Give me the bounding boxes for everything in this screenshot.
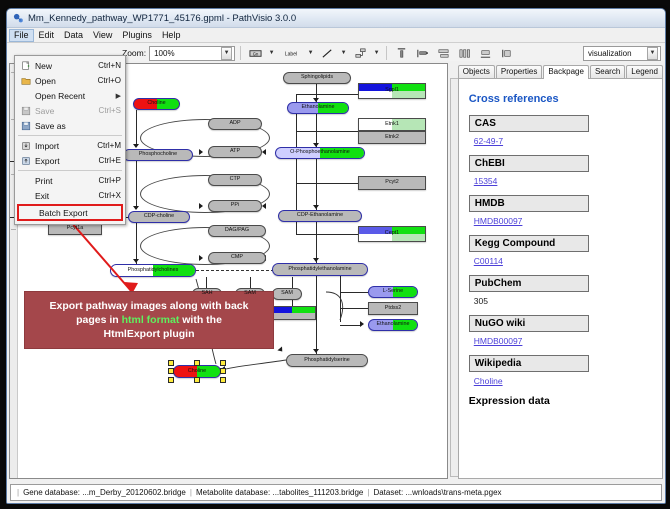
callout-line2-a: pages in (76, 314, 122, 326)
toolbar-separator (240, 46, 241, 60)
backpage-content: Cross references CAS62-49-7ChEBI15354HMD… (458, 78, 663, 479)
xref-value[interactable]: Choline (474, 376, 652, 386)
pathway-node-cdp-choline[interactable]: CDP-choline (128, 211, 190, 223)
line-icon[interactable] (318, 44, 336, 62)
arrowhead (262, 203, 266, 209)
node-label: SAH (201, 291, 212, 296)
chevron-down-icon[interactable]: ▼ (306, 46, 315, 60)
pathway-node-choline-top[interactable]: Choline (133, 98, 180, 110)
arrowhead (262, 149, 266, 155)
arrowhead (199, 203, 203, 209)
menu-file[interactable]: File (9, 29, 34, 42)
gene-db-label: Gene database: (23, 488, 80, 497)
xref-entry: HMDBHMDB00097 (469, 195, 652, 226)
tab-backpage[interactable]: Backpage (543, 65, 589, 79)
node-label: Phosphatidylcholines (128, 268, 179, 273)
pathway-gene-pemt-box[interactable] (268, 306, 316, 320)
common-width-icon[interactable] (476, 44, 494, 62)
node-label: CDP-Ethanolamine (297, 213, 343, 218)
interaction-icon[interactable] (351, 44, 369, 62)
arrowhead (199, 149, 203, 155)
pathway-node-cmp[interactable]: CMP (208, 252, 266, 264)
edge-serine-branch (340, 276, 341, 322)
pathway-node-phosphatidylcholines[interactable]: Phosphatidylcholines (110, 264, 196, 277)
menu-view[interactable]: View (88, 29, 117, 42)
node-label: ATP (230, 149, 240, 154)
chevron-down-icon[interactable]: ▼ (267, 46, 276, 60)
submenu-arrow-icon: ▶ (116, 92, 121, 100)
node-label: Ethanolamine (377, 322, 410, 327)
menu-item-accelerator: Ctrl+S (93, 106, 121, 115)
pathway-node-atp[interactable]: ATP (208, 146, 262, 158)
menu-separator (18, 170, 122, 171)
gene-band-bottom (269, 313, 315, 319)
metabolite-db-value: ...tabolites_111203.bridge (272, 488, 363, 497)
arrowhead (313, 258, 319, 262)
chevron-down-icon[interactable]: ▼ (339, 46, 348, 60)
menu-item-import[interactable]: ImportCtrl+M (15, 138, 125, 153)
menu-item-open-recent[interactable]: Open Recent▶ (15, 88, 125, 103)
pathway-node-ethanolamine-low[interactable]: Ethanolamine (368, 319, 418, 331)
xref-label: CAS (469, 115, 589, 132)
menu-item-accelerator: Ctrl+X (93, 191, 121, 200)
pathway-node-cdp-ethanolamine[interactable]: CDP-Ethanolamine (278, 210, 362, 222)
edge-ethanolamine-low (340, 325, 360, 326)
node-label: Phosphatidylethanolamine (288, 267, 351, 272)
zoom-combo[interactable]: 100% ▼ (149, 46, 235, 61)
pathway-node-l-serine[interactable]: L-Serine (368, 286, 418, 298)
distribute-horizontal-icon[interactable] (455, 44, 473, 62)
menu-item-label: New (32, 61, 92, 71)
common-height-icon[interactable] (497, 44, 515, 62)
edge-pemt-dashed (196, 270, 274, 271)
edge-etnk (296, 131, 358, 132)
toolbar-separator (386, 46, 387, 60)
node-label: CDP-choline (144, 214, 174, 219)
menu-item-label: Import (32, 141, 91, 151)
menu-item-accelerator: Ctrl+E (93, 156, 121, 165)
import-icon (19, 140, 32, 151)
menu-item-label: Save (32, 106, 93, 116)
xref-value[interactable]: 62-49-7 (474, 136, 652, 146)
xref-entry: PubChem305 (469, 275, 652, 306)
pathway-node-phosphatidylethanolamine[interactable]: Phosphatidylethanolamine (272, 263, 368, 276)
xref-link[interactable]: HMDB00097 (474, 336, 523, 346)
gene-label: Cept1 (385, 231, 399, 236)
xref-list: CAS62-49-7ChEBI15354HMDBHMDB00097Kegg Co… (469, 115, 652, 386)
arrowhead (313, 349, 319, 353)
pathway-gene-ptdss2[interactable]: Ptdss2 (368, 302, 418, 315)
menu-item-label: Export (32, 156, 93, 166)
pathway-node-sphingolipids[interactable]: Sphingolipids (283, 72, 351, 84)
menu-item-accelerator: Ctrl+M (91, 141, 121, 150)
xref-value[interactable]: HMDB00097 (474, 336, 652, 346)
svg-text:Gn: Gn (252, 51, 258, 56)
edge-sgpl1 (296, 94, 358, 95)
xref-entry: CAS62-49-7 (469, 115, 652, 146)
tab-properties[interactable]: Properties (496, 65, 542, 78)
menu-item-label: Open Recent (32, 91, 116, 101)
callout-highlight: html format (122, 314, 180, 326)
save-as-icon (19, 120, 32, 131)
pathway-gene-etnk1[interactable]: Etnk1 (358, 118, 426, 131)
xref-value[interactable]: C00114 (474, 256, 652, 266)
menu-item-exit[interactable]: ExitCtrl+X (15, 188, 125, 203)
edge-pcyt2 (296, 183, 358, 184)
xref-entry: Kegg CompoundC00114 (469, 235, 652, 266)
chevron-down-icon[interactable]: ▼ (647, 47, 658, 60)
xref-label: PubChem (469, 275, 589, 292)
menu-separator (18, 135, 122, 136)
xref-label: ChEBI (469, 155, 589, 172)
node-label: SAM (281, 291, 293, 296)
xref-label: Wikipedia (469, 355, 589, 372)
edge-ophospho-cdpetn (316, 159, 317, 211)
gene-label: Sgpl1 (385, 88, 399, 93)
pathway-node-ethanolamine-top[interactable]: Ethanolamine (287, 102, 349, 114)
xref-link[interactable]: 15354 (474, 176, 498, 186)
xref-value[interactable]: 15354 (474, 176, 652, 186)
xref-link[interactable]: HMDB00097 (474, 216, 523, 226)
menu-item-label: Open (32, 76, 92, 86)
expression-data-title: Expression data (469, 395, 652, 407)
xref-label: Kegg Compound (469, 235, 589, 252)
node-label: CMP (231, 255, 243, 260)
metabolite-db-label: Metabolite database: (196, 488, 270, 497)
edge-lserine (340, 292, 368, 293)
open-folder-icon (19, 75, 32, 86)
pathway-node-ppi[interactable]: PPi (208, 200, 262, 212)
menu-item-new[interactable]: NewCtrl+N (15, 58, 125, 73)
menu-plugins[interactable]: Plugins (117, 29, 157, 42)
node-label: CTP (230, 177, 241, 182)
pathway-gene-etnk2[interactable]: Etnk2 (358, 131, 426, 144)
node-label: ADP (229, 121, 240, 126)
gene-label: Pcyt2 (385, 180, 398, 185)
visualization-value: visualization (588, 49, 632, 58)
arrowhead (360, 321, 364, 327)
node-label: Choline (188, 369, 206, 374)
cross-references-title: Cross references (469, 93, 652, 105)
no-icon (19, 175, 32, 186)
align-left-icon[interactable] (413, 44, 431, 62)
node-label: Phosphocholine (139, 152, 177, 157)
pathway-node-o-phosphoethanolamine[interactable]: O-Phosphoethanolamine (275, 147, 365, 159)
edge-phosphocholine-cdpcholine (136, 161, 137, 209)
screen: Mm_Kennedy_pathway_WP1771_45176.gpml - P… (0, 0, 670, 509)
status-text: | Gene database: ...m_Derby_20120602.bri… (10, 484, 662, 501)
label-icon[interactable]: Label (279, 44, 303, 62)
menu-item-save: SaveCtrl+S (15, 103, 125, 118)
pathway-node-phosphatidylserine[interactable]: Phosphatidylserine (286, 354, 368, 367)
file-menu-dropdown[interactable]: NewCtrl+NOpenCtrl+OOpen Recent▶SaveCtrl+… (14, 55, 126, 225)
status-bar: | Gene database: ...m_Derby_20120602.bri… (7, 481, 665, 503)
no-icon (23, 207, 36, 218)
no-icon (19, 190, 32, 201)
xref-label: HMDB (469, 195, 589, 212)
edge-ptdetn-ptdser (316, 276, 317, 354)
menu-bar: File Edit Data View Plugins Help (7, 28, 665, 43)
callout-line3: HtmlExport plugin (104, 328, 195, 340)
xref-link[interactable]: 62-49-7 (474, 136, 503, 146)
edge-cdpcholine-ptdcho (136, 223, 137, 264)
xref-entry: NuGO wikiHMDB00097 (469, 315, 652, 346)
menu-data[interactable]: Data (59, 29, 88, 42)
title-bar: Mm_Kennedy_pathway_WP1771_45176.gpml - P… (7, 9, 665, 28)
node-label: DAG/PAG (225, 228, 249, 233)
dataset-label: Dataset: (373, 488, 403, 497)
arrowhead (199, 255, 203, 261)
gene-label: Etnk1 (385, 122, 399, 127)
arrowhead (133, 144, 139, 148)
pathway-gene-sgpl1[interactable]: Sgpl1 (358, 83, 426, 99)
menu-item-print[interactable]: PrintCtrl+P (15, 173, 125, 188)
menu-item-label: Print (32, 176, 93, 186)
pathway-gene-cept1[interactable]: Cept1 (358, 226, 426, 242)
xref-entry: ChEBI15354 (469, 155, 652, 186)
export-icon (19, 155, 32, 166)
xref-value: 305 (474, 296, 652, 306)
pathway-node-sam-right[interactable]: SAM (272, 288, 302, 300)
visualization-combo[interactable]: visualization ▼ (583, 46, 661, 61)
xref-link[interactable]: C00114 (474, 256, 503, 266)
xref-link[interactable]: Choline (474, 376, 503, 386)
tab-search[interactable]: Search (590, 65, 625, 78)
node-label: O-Phosphoethanolamine (290, 150, 350, 155)
zoom-value: 100% (154, 49, 174, 58)
pathway-gene-pcyt2[interactable]: Pcyt2 (358, 176, 426, 190)
gene-db-value: ...m_Derby_20120602.bridge (82, 488, 186, 497)
gene-label: Pcyt1a (67, 226, 83, 231)
arrowhead (313, 205, 319, 209)
pathvisio-window: Mm_Kennedy_pathway_WP1771_45176.gpml - P… (6, 8, 666, 504)
svg-text:Label: Label (285, 52, 297, 58)
align-top-icon[interactable] (392, 44, 410, 62)
xref-label: NuGO wiki (469, 315, 589, 332)
menu-edit[interactable]: Edit (34, 29, 60, 42)
dataset-value: ...wnloads\trans-meta.pgex (405, 488, 501, 497)
pathway-node-ctp[interactable]: CTP (208, 174, 262, 186)
menu-item-accelerator: Ctrl+O (92, 76, 121, 85)
node-label: Ethanolamine (302, 105, 335, 110)
node-label: PPi (231, 203, 239, 208)
pathway-node-phosphocholine[interactable]: Phosphocholine (123, 149, 193, 161)
menu-item-label: Exit (32, 191, 93, 201)
edge-choline-phosphocholine (136, 110, 137, 146)
side-tabs: Objects Properties Backpage Search Legen… (449, 63, 663, 78)
pathvisio-icon (13, 13, 24, 24)
gene-label: Etnk2 (385, 135, 399, 140)
node-label: Sphingolipids (301, 75, 333, 80)
gene-product-icon[interactable]: Gn (246, 44, 264, 62)
menu-item-save-as[interactable]: Save as (15, 118, 125, 133)
new-file-icon (19, 60, 32, 71)
node-label: L-Serine (383, 289, 403, 294)
save-icon (19, 105, 32, 116)
node-label: Choline (147, 101, 165, 106)
arrowhead (133, 259, 139, 263)
menu-item-export[interactable]: ExportCtrl+E (15, 153, 125, 168)
edge-cept1 (296, 234, 358, 235)
node-label: SAM (244, 291, 256, 296)
menu-item-open[interactable]: OpenCtrl+O (15, 73, 125, 88)
callout-banner: Export pathway images along with back pa… (24, 291, 274, 349)
menu-help[interactable]: Help (157, 29, 186, 42)
menu-item-accelerator: Ctrl+P (93, 176, 121, 185)
window-title: Mm_Kennedy_pathway_WP1771_45176.gpml - P… (28, 13, 296, 24)
tab-legend[interactable]: Legend (626, 65, 663, 78)
arrowhead (133, 206, 139, 210)
callout-line2-b: with the (179, 314, 222, 326)
xref-entry: WikipediaCholine (469, 355, 652, 386)
edge-ptdss2 (340, 308, 368, 309)
menu-item-batch-export[interactable]: Batch Export (17, 204, 123, 221)
menu-item-label: Batch Export (36, 208, 111, 218)
menu-item-label: Save as (32, 121, 115, 131)
node-label: Phosphatidylserine (304, 358, 350, 363)
pathway-node-adp[interactable]: ADP (208, 118, 262, 130)
arrowhead (277, 347, 284, 354)
tab-objects[interactable]: Objects (458, 65, 495, 78)
menu-item-accelerator: Ctrl+N (92, 61, 121, 70)
chevron-down-icon[interactable]: ▼ (221, 47, 232, 60)
no-icon (19, 90, 32, 101)
pathway-node-dag-pag[interactable]: DAG/PAG (208, 225, 266, 237)
side-panel: Objects Properties Backpage Search Legen… (449, 63, 663, 479)
stack-center-icon[interactable] (434, 44, 452, 62)
gene-label: Ptdss2 (385, 306, 401, 311)
chevron-down-icon[interactable]: ▼ (372, 46, 381, 60)
xref-value[interactable]: HMDB00097 (474, 216, 652, 226)
callout-line1: Export pathway images along with back (50, 300, 249, 312)
